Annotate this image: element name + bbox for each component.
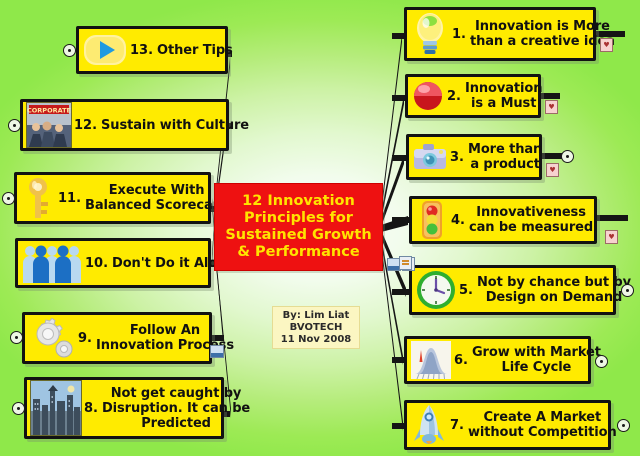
node-12-label: Sustain with Culture (101, 118, 249, 133)
node-5-label: Not by chance but by Design on Demand (477, 275, 631, 305)
node-5-expand-button[interactable] (621, 284, 634, 297)
node-1-note-icon[interactable] (600, 38, 613, 52)
node-2-note-icon[interactable] (545, 100, 558, 114)
node-3-expand-button[interactable] (561, 150, 574, 163)
node-5-number: 5. (459, 283, 477, 298)
node-3-number: 3. (450, 150, 468, 165)
node-7-number: 7. (450, 418, 468, 433)
node-8-line-3: Predicted (102, 416, 250, 431)
node-2-text: 2. Innovation is a Must (447, 81, 547, 111)
node-3-line-2: a product (468, 157, 542, 172)
people-group-icon (21, 241, 83, 285)
node-13-label: Other Tips (157, 43, 233, 58)
node-2[interactable]: 2. Innovation is a Must (405, 74, 541, 118)
node-6-expand-button[interactable] (595, 355, 608, 368)
node-12[interactable]: CORPORATE 12. Sustain with Culture (20, 99, 229, 151)
node-3-text: 3. More than a product (450, 142, 547, 172)
node-8-label: Not get caught by Disruption. It can be … (102, 386, 250, 431)
lightbulb-icon (410, 12, 450, 56)
central-line-4: & Performance (225, 244, 371, 261)
node-1-number: 1. (452, 27, 470, 42)
node-1-line-1: Innovation is More (470, 19, 615, 34)
node-11-expand-button[interactable] (2, 192, 15, 205)
node-9[interactable]: 9. Follow An Innovation Process (22, 312, 212, 364)
node-5-line-2: Design on Demand (477, 290, 631, 305)
node-4-line-2: can be measured (469, 220, 593, 235)
author-line-2: BVOTECH (281, 322, 351, 334)
node-13-line-1: Other Tips (157, 43, 233, 58)
node-6-line-2: Life Cycle (472, 360, 601, 375)
node-12-line-1: Sustain with Culture (101, 118, 249, 133)
node-3-label: More than a product (468, 142, 542, 172)
node-9-line-1: Follow An (96, 323, 234, 338)
central-topic-text: 12 Innovation Principles for Sustained G… (225, 193, 371, 261)
node-7[interactable]: 7. Create A Market without Competition (404, 400, 611, 450)
central-line-2: Principles for (225, 210, 371, 227)
svg-text:CORPORATE: CORPORATE (27, 107, 71, 115)
play-button-icon (82, 31, 128, 69)
node-4-text: 4. Innovativeness can be measured (451, 205, 598, 235)
node-12-number: 12. (74, 118, 101, 133)
bell-curve-icon (410, 340, 452, 380)
node-8-text: 8. Not get caught by Disruption. It can … (84, 386, 255, 431)
node-4-doc-icon[interactable] (399, 256, 412, 270)
central-topic-node[interactable]: 12 Innovation Principles for Sustained G… (214, 183, 383, 271)
node-6-line-1: Grow with Market (472, 345, 601, 360)
node-2-number: 2. (447, 89, 465, 104)
node-12-text: 12. Sustain with Culture (74, 118, 254, 133)
node-4[interactable]: 4. Innovativeness can be measured (409, 196, 597, 244)
node-6-number: 6. (454, 353, 472, 368)
node-7-line-2: without Competition (468, 425, 617, 440)
node-8-line-2: Disruption. It can be (102, 401, 250, 416)
node-2-line-1: Innovation (465, 81, 542, 96)
mindmap-canvas: 12 Innovation Principles for Sustained G… (0, 0, 640, 456)
node-5[interactable]: 5. Not by chance but by Design on Demand (409, 265, 616, 315)
node-4-note-icon[interactable] (605, 230, 618, 244)
node-11-label: Execute With Balanced Scorecard (85, 183, 228, 213)
node-7-line-1: Create A Market (468, 410, 617, 425)
node-7-label: Create A Market without Competition (468, 410, 617, 440)
node-1[interactable]: 1. Innovation is More than a creative id… (404, 7, 596, 61)
node-2-line-2: is a Must (465, 96, 542, 111)
author-line-1: By: Lim Liat (281, 310, 351, 322)
central-line-1: 12 Innovation (225, 193, 371, 210)
node-4-number: 4. (451, 213, 469, 228)
key-icon (20, 176, 56, 220)
red-sphere-icon (411, 78, 445, 114)
node-9-expand-button[interactable] (10, 331, 23, 344)
node-13-expand-button[interactable] (63, 44, 76, 57)
node-8-number: 8. (84, 401, 102, 416)
node-3-note-icon[interactable] (546, 163, 559, 177)
node-11-line-1: Execute With (85, 183, 228, 198)
node-11-text: 11. Execute With Balanced Scorecard (58, 183, 233, 213)
node-12-expand-button[interactable] (8, 119, 21, 132)
city-photo-icon (30, 380, 82, 436)
node-3-line-1: More than (468, 142, 542, 157)
node-13-text: 13. Other Tips (130, 43, 238, 58)
node-7-expand-button[interactable] (617, 419, 630, 432)
node-7-text: 7. Create A Market without Competition (450, 410, 622, 440)
node-6-text: 6. Grow with Market Life Cycle (454, 345, 606, 375)
node-11[interactable]: 11. Execute With Balanced Scorecard (14, 172, 211, 224)
node-13[interactable]: 13. Other Tips (76, 26, 228, 74)
node-9-picture-icon[interactable] (210, 345, 224, 358)
gears-icon (28, 316, 76, 360)
author-line-3: 11 Nov 2008 (281, 334, 351, 346)
node-8-line-1: Not get caught by (102, 386, 250, 401)
camera-icon (412, 141, 448, 173)
node-1-label: Innovation is More than a creative idea (470, 19, 615, 49)
node-10-number: 10. (85, 256, 112, 271)
node-1-text: 1. Innovation is More than a creative id… (452, 19, 620, 49)
node-2-label: Innovation is a Must (465, 81, 542, 111)
node-8-expand-button[interactable] (12, 402, 25, 415)
author-note-text: By: Lim Liat BVOTECH 11 Nov 2008 (281, 310, 351, 346)
node-11-number: 11. (58, 191, 85, 206)
node-1-line-2: than a creative idea (470, 34, 615, 49)
node-6-label: Grow with Market Life Cycle (472, 345, 601, 375)
node-4-label: Innovativeness can be measured (469, 205, 593, 235)
node-3[interactable]: 3. More than a product (406, 134, 542, 180)
central-line-3: Sustained Growth (225, 227, 371, 244)
node-5-line-1: Not by chance but by (477, 275, 631, 290)
node-6[interactable]: 6. Grow with Market Life Cycle (404, 336, 591, 384)
corporate-photo-icon: CORPORATE (26, 102, 72, 148)
traffic-light-icon (415, 199, 449, 241)
author-note: By: Lim Liat BVOTECH 11 Nov 2008 (272, 306, 360, 349)
rocket-icon (410, 403, 448, 447)
node-9-number: 9. (78, 331, 96, 346)
clock-icon (415, 269, 457, 311)
node-11-line-2: Balanced Scorecard (85, 198, 228, 213)
node-10[interactable]: 10. Don't Do it Alone (15, 238, 211, 288)
node-5-text: 5. Not by chance but by Design on Demand (459, 275, 636, 305)
node-13-number: 13. (130, 43, 157, 58)
node-4-line-1: Innovativeness (469, 205, 593, 220)
node-8[interactable]: 8. Not get caught by Disruption. It can … (24, 377, 224, 439)
